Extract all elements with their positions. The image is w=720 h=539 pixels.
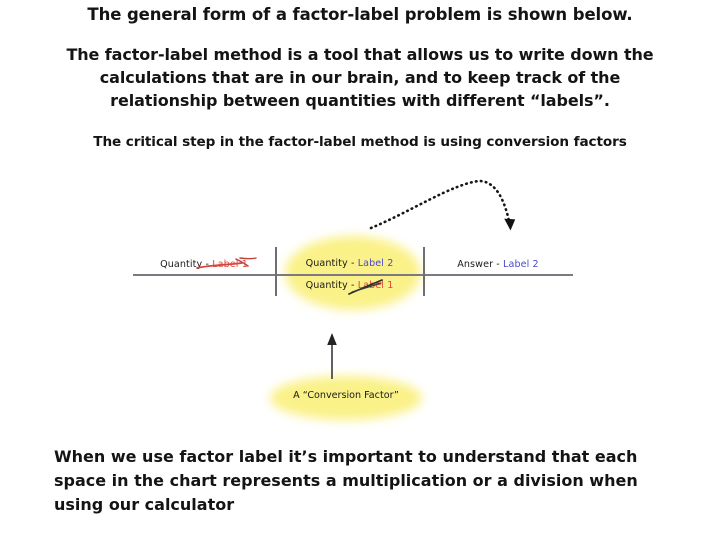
middle-cell-highlight <box>285 236 421 310</box>
footnote-part-2: or a <box>467 471 513 490</box>
footnote-emphasis-division: division <box>513 471 583 490</box>
cell-right-prefix: Answer - <box>457 259 503 270</box>
conversion-factor-arrow-icon <box>327 333 337 379</box>
chart-cell-middle-numerator: Quantity - Label 2 <box>276 258 423 269</box>
headline-primary: The general form of a factor-label probl… <box>0 4 720 26</box>
carry-over-arrow-icon <box>371 181 515 231</box>
conversion-factor-label: A “Conversion Factor” <box>270 390 422 401</box>
footnote-emphasis-multiplication: multiplication <box>342 471 467 490</box>
chart-cell-left: Quantity - Label 1 <box>133 259 275 270</box>
headline-secondary: The factor-label method is a tool that a… <box>58 43 662 112</box>
chart-cell-middle-denominator: Quantity - Label 1 <box>276 280 423 291</box>
cell-middle-numerator-label: Label 2 <box>358 258 394 269</box>
slide-canvas: The general form of a factor-label probl… <box>0 0 720 539</box>
headline-tertiary: The critical step in the factor-label me… <box>48 133 672 152</box>
chart-divider-right <box>423 247 425 296</box>
cell-left-prefix: Quantity - <box>160 259 212 270</box>
cell-middle-numerator-prefix: Quantity - <box>306 258 358 269</box>
cell-right-label: Label 2 <box>503 259 539 270</box>
footnote-text: When we use factor label it’s important … <box>54 445 672 517</box>
chart-horizontal-rule <box>133 274 573 276</box>
cell-left-label: Label 1 <box>212 259 248 270</box>
cell-middle-denominator-prefix: Quantity - <box>306 280 358 291</box>
chart-cell-right: Answer - Label 2 <box>424 259 572 270</box>
cell-middle-denominator-label: Label 1 <box>358 280 394 291</box>
